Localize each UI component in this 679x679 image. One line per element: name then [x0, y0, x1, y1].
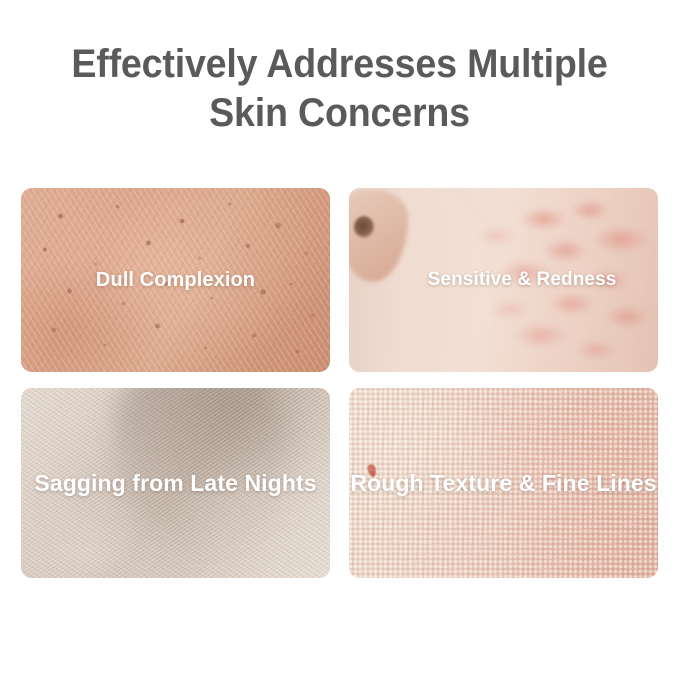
page-title: Effectively Addresses Multiple Skin Conc… [20, 40, 658, 138]
concern-label: Dull Complexion [86, 269, 265, 292]
promo-graphic: Effectively Addresses Multiple Skin Conc… [0, 0, 679, 679]
skin-concerns-grid: Dull Complexion Sensitive & Redness Sagg… [21, 188, 658, 578]
concern-card-dull-complexion[interactable]: Dull Complexion [21, 188, 330, 372]
concern-label: Rough Texture & Fine Lines [349, 470, 658, 497]
concern-card-sagging-late-nights[interactable]: Sagging from Late Nights [21, 388, 330, 578]
concern-label: Sensitive & Redness [418, 269, 627, 291]
concern-card-sensitive-redness[interactable]: Sensitive & Redness [349, 188, 658, 372]
concern-label: Sagging from Late Nights [24, 470, 326, 497]
concern-card-rough-texture-fine-lines[interactable]: Rough Texture & Fine Lines [349, 388, 658, 578]
